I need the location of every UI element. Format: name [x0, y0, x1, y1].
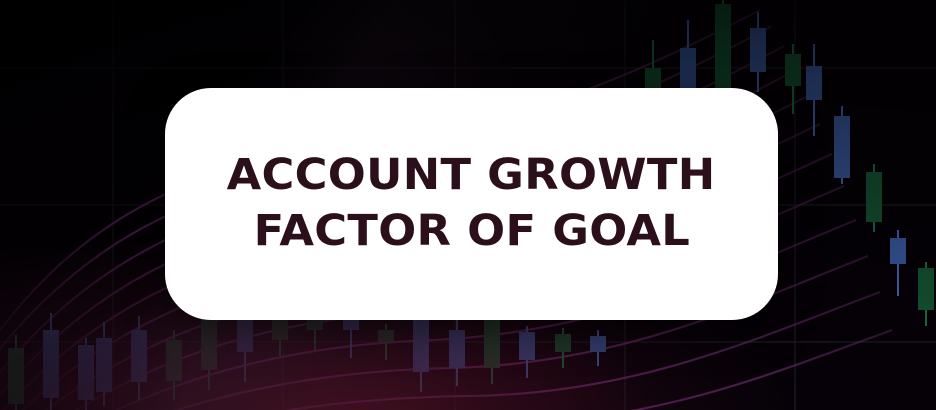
- page-title-line-1: ACCOUNT GROWTH: [227, 151, 716, 201]
- page-title-line-2: FACTOR OF GOAL: [253, 207, 690, 257]
- promo-banner: ACCOUNT GROWTH FACTOR OF GOAL: [0, 0, 936, 410]
- title-card: ACCOUNT GROWTH FACTOR OF GOAL: [165, 88, 778, 320]
